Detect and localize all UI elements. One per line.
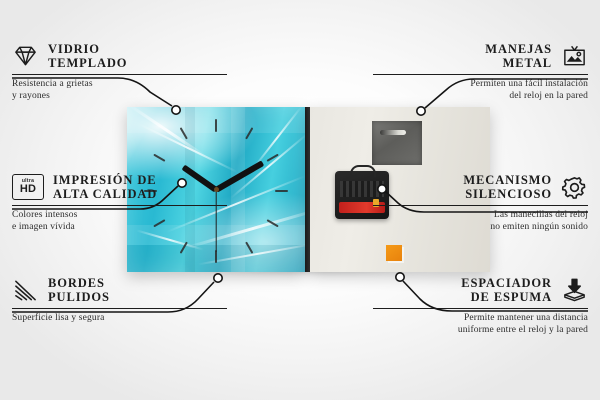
arrow-into-foam-icon bbox=[561, 277, 588, 303]
feature-desc-line1: Las manecillas del reloj bbox=[494, 210, 588, 220]
feature-header: BORDES PULIDOS bbox=[12, 276, 227, 304]
feature-divider bbox=[12, 205, 227, 206]
feature-divider bbox=[12, 308, 227, 309]
feature-desc-line2: del reloj en la pared bbox=[509, 91, 588, 101]
feature-divider bbox=[12, 74, 227, 75]
feature-description: Colores intensos e imagen vívida bbox=[12, 210, 227, 233]
feature-title: IMPRESIÓN DE ALTA CALIDAD bbox=[53, 173, 157, 201]
feature-mecanismo-silencioso[interactable]: MECANISMO SILENCIOSO Las manecillas del … bbox=[373, 173, 588, 233]
feature-description: Las manecillas del reloj no emiten ningú… bbox=[373, 210, 588, 233]
feature-espaciador-espuma[interactable]: ESPACIADOR DE ESPUMA Permite mantener un… bbox=[373, 276, 588, 336]
feature-title-line2: TEMPLADO bbox=[48, 56, 127, 70]
feature-title-line2: DE ESPUMA bbox=[471, 290, 552, 304]
feature-title-line2: METAL bbox=[503, 56, 552, 70]
feature-description: Permite mantener una distancia uniforme … bbox=[373, 313, 588, 336]
ultra-hd-main-text: HD bbox=[20, 184, 36, 195]
feature-vidrio-templado[interactable]: VIDRIO TEMPLADO Resistencia a grietas y … bbox=[12, 42, 227, 102]
feature-divider bbox=[373, 308, 588, 309]
feature-title-line1: BORDES bbox=[48, 276, 105, 290]
feature-title-line2: SILENCIOSO bbox=[465, 187, 552, 201]
feature-title-line2: ALTA CALIDAD bbox=[53, 187, 157, 201]
feature-impresion-alta-calidad[interactable]: ultra HD IMPRESIÓN DE ALTA CALIDAD Color… bbox=[12, 173, 227, 233]
diamond-icon bbox=[12, 43, 39, 69]
feature-title: MANEJAS METAL bbox=[485, 42, 552, 70]
feature-desc-line2: y rayones bbox=[12, 91, 50, 101]
feature-header: MECANISMO SILENCIOSO bbox=[373, 173, 588, 201]
feature-desc-line2: e imagen vívida bbox=[12, 222, 75, 232]
infographic-canvas: VIDRIO TEMPLADO Resistencia a grietas y … bbox=[0, 0, 600, 400]
feature-header: ESPACIADOR DE ESPUMA bbox=[373, 276, 588, 304]
feature-title-line1: VIDRIO bbox=[48, 42, 100, 56]
ultra-hd-icon: ultra HD bbox=[12, 174, 44, 200]
picture-frame-hanger-icon bbox=[561, 43, 588, 69]
feature-title: ESPACIADOR DE ESPUMA bbox=[461, 276, 552, 304]
feature-header: ultra HD IMPRESIÓN DE ALTA CALIDAD bbox=[12, 173, 227, 201]
feature-desc-line1: Permiten una fácil instalación bbox=[470, 79, 588, 89]
feature-header: MANEJAS METAL bbox=[373, 42, 588, 70]
wire-dot-vidrio-templado bbox=[172, 106, 180, 114]
feature-desc-line1: Permite mantener una distancia bbox=[464, 313, 588, 323]
feature-description: Superficie lisa y segura bbox=[12, 313, 227, 325]
feature-description: Resistencia a grietas y rayones bbox=[12, 79, 227, 102]
feature-manejas-metal[interactable]: MANEJAS METAL Permiten una fácil instala… bbox=[373, 42, 588, 102]
feature-desc-line2: uniforme entre el reloj y la pared bbox=[458, 325, 588, 335]
feature-title: MECANISMO SILENCIOSO bbox=[463, 173, 552, 201]
feature-desc-line1: Colores intensos bbox=[12, 210, 77, 220]
feature-desc-line2: no emiten ningún sonido bbox=[490, 222, 588, 232]
feature-bordes-pulidos[interactable]: BORDES PULIDOS Superficie lisa y segura bbox=[12, 276, 227, 325]
feature-desc-line1: Resistencia a grietas bbox=[12, 79, 93, 89]
feature-divider bbox=[373, 74, 588, 75]
feature-description: Permiten una fácil instalación del reloj… bbox=[373, 79, 588, 102]
feature-title-line2: PULIDOS bbox=[48, 290, 110, 304]
feature-title-line1: MANEJAS bbox=[485, 42, 552, 56]
feature-header: VIDRIO TEMPLADO bbox=[12, 42, 227, 70]
polished-edges-icon bbox=[12, 277, 39, 303]
feature-title-line1: ESPACIADOR bbox=[461, 276, 552, 290]
wire-dot-manejas-metal bbox=[417, 107, 425, 115]
feature-title: BORDES PULIDOS bbox=[48, 276, 110, 304]
feature-desc-line1: Superficie lisa y segura bbox=[12, 313, 105, 323]
gear-icon bbox=[561, 174, 588, 200]
feature-title-line1: IMPRESIÓN DE bbox=[53, 173, 157, 187]
feature-divider bbox=[373, 205, 588, 206]
feature-title-line1: MECANISMO bbox=[463, 173, 552, 187]
feature-title: VIDRIO TEMPLADO bbox=[48, 42, 127, 70]
